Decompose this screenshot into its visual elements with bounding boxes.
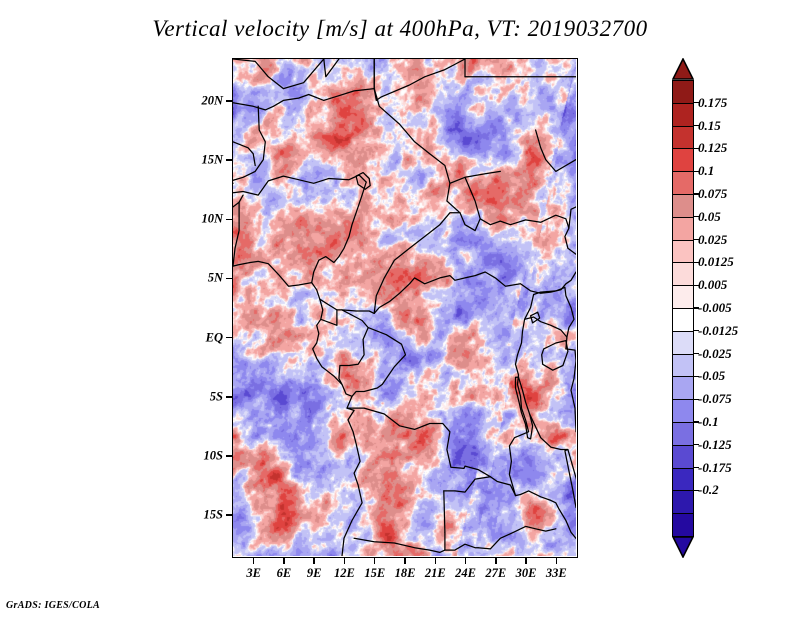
- border-line: [374, 213, 460, 314]
- border-line: [478, 526, 556, 549]
- colorbar-tick-label: 0.125: [698, 140, 727, 156]
- border-line: [233, 195, 243, 207]
- border-line: [480, 215, 576, 254]
- colorbar-tick-mark: [694, 330, 699, 331]
- border-line: [530, 414, 568, 450]
- colorbar-tick-label: -0.125: [698, 437, 732, 453]
- y-axis-tick-mark: [226, 219, 232, 221]
- border-line: [374, 272, 576, 313]
- colorbar-extend-high-cap: [672, 58, 694, 80]
- colorbar-tick-label: -0.0125: [698, 323, 738, 339]
- y-axis-tick-mark: [226, 455, 232, 457]
- colorbar-tick-label: -0.2: [698, 482, 719, 498]
- colorbar-swatch: [672, 80, 694, 104]
- border-line: [233, 261, 312, 286]
- border-line: [312, 182, 367, 283]
- colorbar-tick-mark: [694, 307, 699, 308]
- colorbar-swatch: [672, 376, 694, 400]
- border-line: [324, 59, 339, 77]
- border-line: [233, 59, 324, 89]
- border-line: [536, 130, 576, 171]
- colorbar-tick-label: 0.05: [698, 209, 721, 225]
- x-axis-tick-label: 9E: [307, 566, 322, 581]
- colorbar-swatch: [672, 513, 694, 537]
- border-line: [525, 317, 567, 337]
- border-line: [445, 532, 478, 550]
- y-axis-tick-label: 20N: [201, 93, 223, 108]
- y-axis-tick-label: 10N: [201, 212, 223, 227]
- colorbar-tick-label: 0.075: [698, 186, 727, 202]
- border-line: [444, 491, 445, 532]
- colorbar-swatch: [672, 490, 694, 514]
- colorbar-tick-mark: [694, 216, 699, 217]
- colorbar-tick-label: 0.025: [698, 232, 727, 248]
- colorbar-swatch: [672, 262, 694, 286]
- border-line: [233, 142, 255, 166]
- x-axis-tick-mark: [525, 558, 527, 564]
- x-axis-tick-mark: [556, 558, 558, 564]
- x-axis-tick-label: 6E: [277, 566, 292, 581]
- x-axis-tick-mark: [344, 558, 346, 564]
- x-axis-tick-label: 3E: [246, 566, 261, 581]
- x-axis-tick-mark: [495, 558, 497, 564]
- y-axis-tick-mark: [226, 396, 232, 398]
- colorbar-swatch: [672, 103, 694, 127]
- y-axis-tick-label: 5N: [208, 271, 223, 286]
- page-title: Vertical velocity [m/s] at 400hPa, VT: 2…: [0, 16, 800, 42]
- border-line: [534, 287, 565, 294]
- colorbar-tick-mark: [694, 353, 699, 354]
- colorbar-tick-mark: [694, 262, 699, 263]
- border-line: [233, 89, 374, 110]
- border-line: [444, 477, 491, 492]
- border-line: [565, 450, 576, 508]
- colorbar-tick-mark: [694, 148, 699, 149]
- colorbar-tick-label: -0.175: [698, 460, 732, 476]
- border-line: [509, 295, 533, 496]
- colorbar-swatch: [672, 240, 694, 264]
- x-axis-tick-label: 21E: [425, 566, 446, 581]
- colorbar-tick-mark: [694, 102, 699, 103]
- border-line: [465, 177, 480, 219]
- border-line: [566, 349, 576, 432]
- border-line: [339, 310, 368, 385]
- x-axis-tick-mark: [465, 558, 467, 564]
- x-axis-tick-mark: [253, 558, 255, 564]
- y-axis-tick-label: 15N: [201, 153, 223, 168]
- colorbar-tick-mark: [694, 490, 699, 491]
- colorbar-tick-label: -0.005: [698, 300, 732, 316]
- border-line: [233, 106, 265, 183]
- colorbar-swatch: [672, 285, 694, 309]
- colorbar-swatch: [672, 354, 694, 378]
- x-axis-tick-label: 18E: [395, 566, 416, 581]
- colorbar-tick-label: 0.0125: [698, 254, 734, 270]
- colorbar-tick-mark: [694, 467, 699, 468]
- colorbar-tick-label: -0.05: [698, 368, 725, 384]
- colorbar-swatch: [672, 422, 694, 446]
- colorbar-tick-label: 0.1: [698, 163, 714, 179]
- colorbar-tick-mark: [694, 193, 699, 194]
- colorbar-swatch: [672, 148, 694, 172]
- map-plot-area: [232, 58, 578, 558]
- colorbar-tick-mark: [694, 421, 699, 422]
- colorbar-tick-label: -0.075: [698, 391, 732, 407]
- x-axis-tick-label: 15E: [364, 566, 385, 581]
- country-borders-overlay: [233, 59, 576, 556]
- y-axis-tick-label: EQ: [206, 330, 223, 345]
- border-line: [569, 207, 576, 228]
- border-line: [374, 89, 480, 231]
- colorbar-tick-label: 0.005: [698, 277, 727, 293]
- x-axis-tick-label: 24E: [455, 566, 476, 581]
- colorbar-swatch: [672, 331, 694, 355]
- border-line: [356, 173, 370, 190]
- colorbar-tick-mark: [694, 239, 699, 240]
- border-line: [233, 202, 239, 266]
- x-axis-tick-label: 12E: [334, 566, 355, 581]
- y-axis-tick-mark: [226, 278, 232, 280]
- colorbar-swatch: [672, 217, 694, 241]
- colorbar-tick-mark: [694, 376, 699, 377]
- y-axis-tick-mark: [226, 159, 232, 161]
- x-axis-tick-mark: [374, 558, 376, 564]
- colorbar-swatch: [672, 468, 694, 492]
- x-axis-tick-label: 27E: [485, 566, 506, 581]
- x-axis-tick-label: 30E: [516, 566, 537, 581]
- colorbar-swatch: [672, 445, 694, 469]
- x-axis-tick-mark: [435, 558, 437, 564]
- border-line: [521, 491, 577, 538]
- x-axis-tick-mark: [283, 558, 285, 564]
- colorbar: [672, 58, 694, 558]
- colorbar-tick-mark: [694, 125, 699, 126]
- border-line: [320, 299, 374, 313]
- border-line: [374, 59, 465, 100]
- colorbar-tick-mark: [694, 171, 699, 172]
- colorbar-extend-low-cap: [672, 536, 694, 558]
- y-axis-tick-mark: [226, 337, 232, 339]
- colorbar-tick-mark: [694, 444, 699, 445]
- colorbar-swatch: [672, 171, 694, 195]
- y-axis-tick-mark: [226, 514, 232, 516]
- y-axis-tick-label: 10S: [204, 448, 223, 463]
- colorbar-tick-label: -0.025: [698, 346, 732, 362]
- border-line: [450, 171, 500, 183]
- x-axis-tick-mark: [313, 558, 315, 564]
- border-line: [565, 287, 574, 349]
- colorbar-tick-label: -0.1: [698, 414, 719, 430]
- colorbar-tick-label: 0.15: [698, 118, 721, 134]
- footer-credit: GrADS: IGES/COLA: [6, 600, 100, 611]
- colorbar-swatch: [672, 399, 694, 423]
- colorbar-swatch: [672, 194, 694, 218]
- colorbar-swatch: [672, 308, 694, 332]
- x-axis-tick-label: 33E: [546, 566, 567, 581]
- y-axis-tick-label: 5S: [210, 389, 223, 404]
- colorbar-tick-mark: [694, 285, 699, 286]
- border-line: [321, 310, 337, 325]
- y-axis-tick-mark: [226, 100, 232, 102]
- colorbar-tick-label: 0.175: [698, 95, 727, 111]
- colorbar-swatch: [672, 126, 694, 150]
- border-line: [233, 175, 366, 195]
- x-axis-tick-mark: [404, 558, 406, 564]
- border-line: [354, 538, 445, 552]
- colorbar-tick-mark: [694, 399, 699, 400]
- border-line: [542, 341, 568, 371]
- border-line: [347, 408, 521, 496]
- y-axis-tick-label: 15S: [204, 508, 223, 523]
